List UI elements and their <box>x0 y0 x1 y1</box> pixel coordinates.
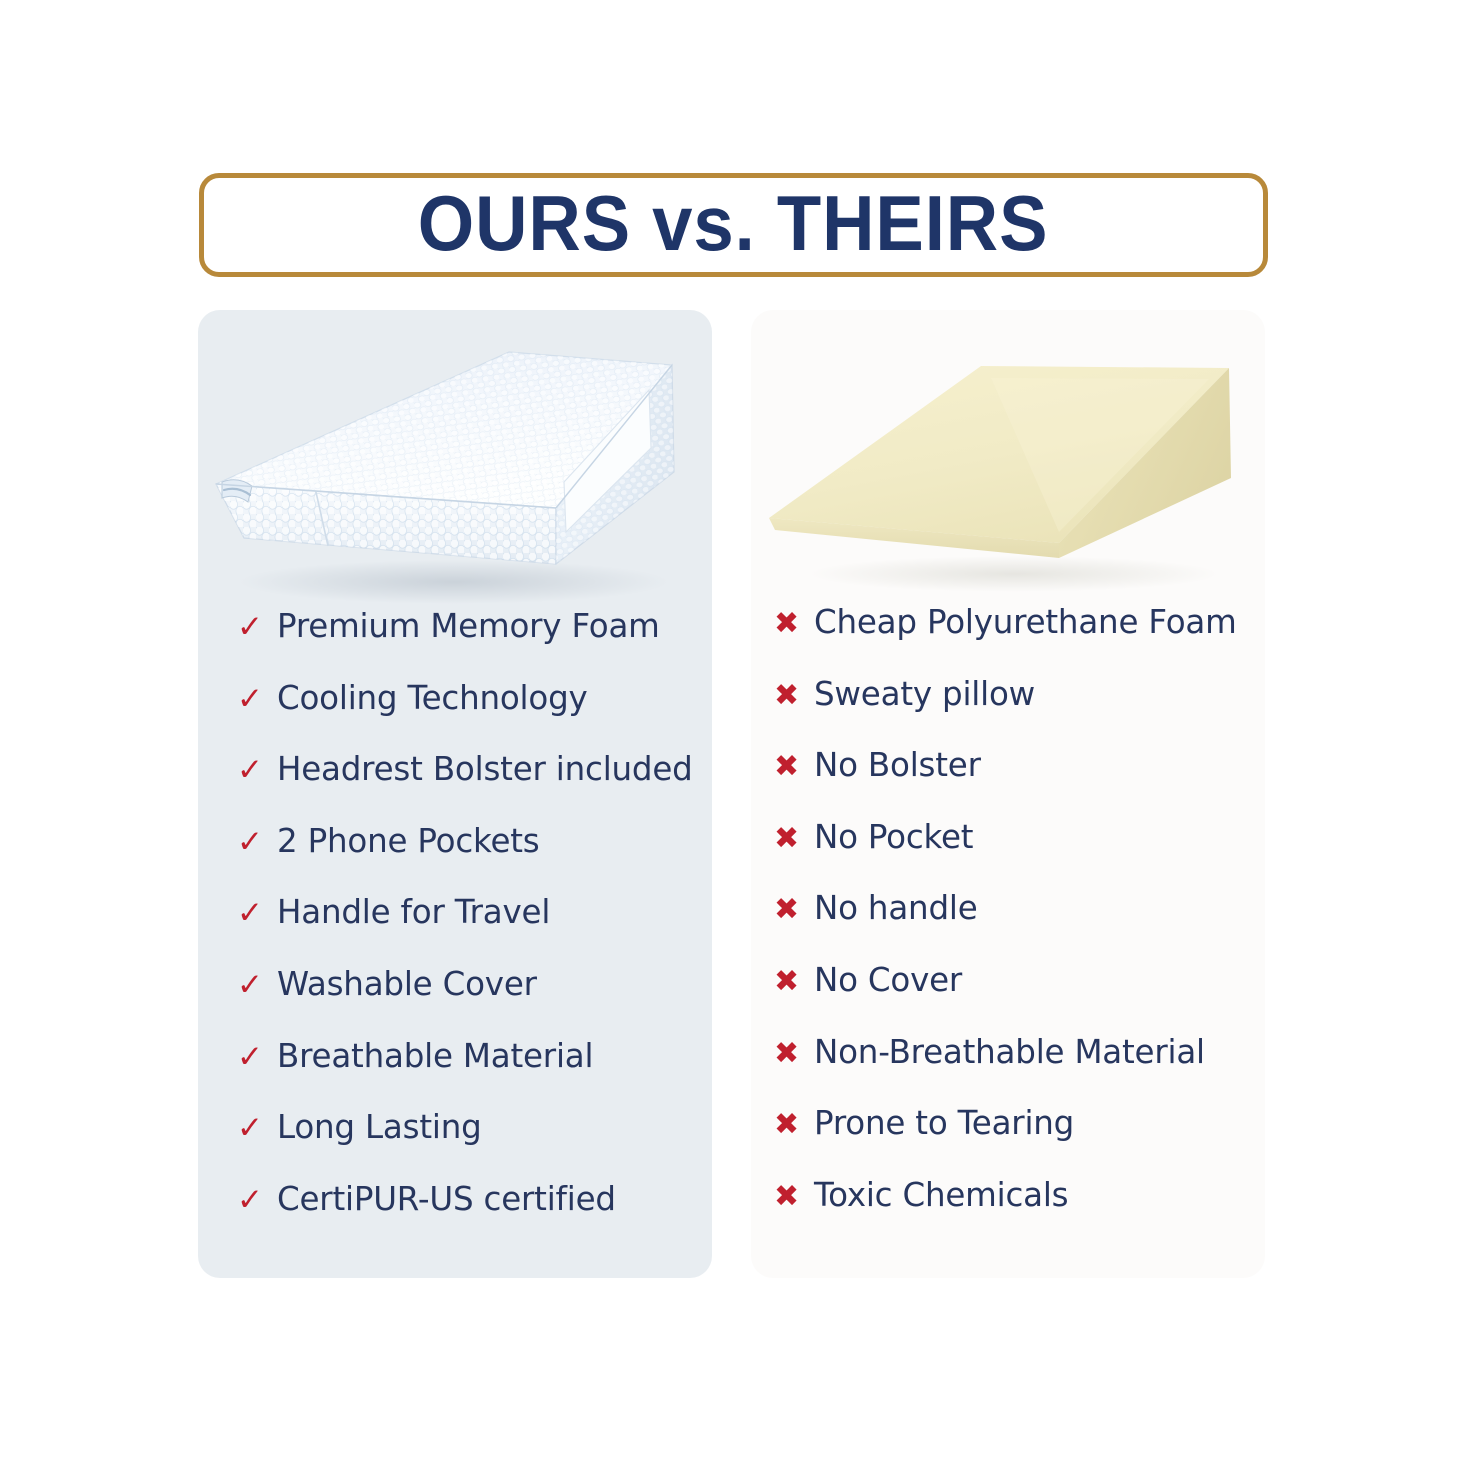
page-title: OURS vs. THEIRS <box>418 184 1049 262</box>
feature-label: No handle <box>814 892 978 925</box>
check-icon: ✓ <box>214 827 277 858</box>
feature-label: No Pocket <box>814 821 973 854</box>
feature-label: Washable Cover <box>277 968 537 1001</box>
feature-label: Handle for Travel <box>277 896 550 929</box>
cross-icon: ✖ <box>762 1110 814 1140</box>
check-icon: ✓ <box>214 970 277 1001</box>
comparison-panel-theirs: ✖ Cheap Polyurethane Foam ✖ Sweaty pillo… <box>751 310 1265 1278</box>
check-icon: ✓ <box>214 1185 277 1216</box>
list-item: ✖ Toxic Chemicals <box>762 1179 1265 1251</box>
feature-label: Long Lasting <box>277 1111 482 1144</box>
list-item: ✖ No Bolster <box>762 749 1265 821</box>
list-item: ✖ No Cover <box>762 964 1265 1036</box>
feature-label: 2 Phone Pockets <box>277 825 540 858</box>
list-item: ✓ Handle for Travel <box>214 896 712 968</box>
list-item: ✓ Long Lasting <box>214 1111 712 1183</box>
feature-label: No Bolster <box>814 749 981 782</box>
cross-icon: ✖ <box>762 967 814 997</box>
list-item: ✖ No Pocket <box>762 821 1265 893</box>
wedge-pillow-ours-illustration <box>204 332 704 610</box>
feature-label: CertiPUR-US certified <box>277 1183 616 1216</box>
check-icon: ✓ <box>214 898 277 929</box>
product-image-ours <box>198 310 712 610</box>
list-item: ✖ Non-Breathable Material <box>762 1036 1265 1108</box>
feature-label: Breathable Material <box>277 1040 593 1073</box>
list-item: ✓ CertiPUR-US certified <box>214 1183 712 1255</box>
cross-icon: ✖ <box>762 1039 814 1069</box>
product-image-theirs <box>751 310 1265 610</box>
list-item: ✖ No handle <box>762 892 1265 964</box>
cross-icon: ✖ <box>762 681 814 711</box>
check-icon: ✓ <box>214 612 277 643</box>
comparison-panel-ours: ✓ Premium Memory Foam ✓ Cooling Technolo… <box>198 310 712 1278</box>
feature-label: No Cover <box>814 964 962 997</box>
list-item: ✓ 2 Phone Pockets <box>214 825 712 897</box>
feature-label: Cooling Technology <box>277 682 588 715</box>
feature-label: Non-Breathable Material <box>814 1036 1205 1069</box>
feature-label: Prone to Tearing <box>814 1107 1074 1140</box>
list-item: ✖ Sweaty pillow <box>762 678 1265 750</box>
feature-label: Sweaty pillow <box>814 678 1035 711</box>
list-item: ✓ Headrest Bolster included <box>214 753 712 825</box>
list-item: ✓ Premium Memory Foam <box>214 610 712 682</box>
check-icon: ✓ <box>214 1113 277 1144</box>
cross-icon: ✖ <box>762 609 814 639</box>
feature-label: Headrest Bolster included <box>277 753 693 786</box>
list-item: ✓ Washable Cover <box>214 968 712 1040</box>
feature-label: Premium Memory Foam <box>277 610 660 643</box>
feature-list-theirs: ✖ Cheap Polyurethane Foam ✖ Sweaty pillo… <box>751 606 1265 1250</box>
list-item: ✖ Prone to Tearing <box>762 1107 1265 1179</box>
feature-label: Cheap Polyurethane Foam <box>814 606 1237 639</box>
feature-list-ours: ✓ Premium Memory Foam ✓ Cooling Technolo… <box>198 610 712 1254</box>
title-banner: OURS vs. THEIRS <box>199 173 1268 277</box>
list-item: ✓ Cooling Technology <box>214 682 712 754</box>
check-icon: ✓ <box>214 755 277 786</box>
list-item: ✓ Breathable Material <box>214 1040 712 1112</box>
cross-icon: ✖ <box>762 895 814 925</box>
check-icon: ✓ <box>214 684 277 715</box>
cross-icon: ✖ <box>762 1182 814 1212</box>
cross-icon: ✖ <box>762 752 814 782</box>
wedge-pillow-theirs-illustration <box>759 336 1259 606</box>
cross-icon: ✖ <box>762 824 814 854</box>
feature-label: Toxic Chemicals <box>814 1179 1068 1212</box>
check-icon: ✓ <box>214 1042 277 1073</box>
list-item: ✖ Cheap Polyurethane Foam <box>762 606 1265 678</box>
